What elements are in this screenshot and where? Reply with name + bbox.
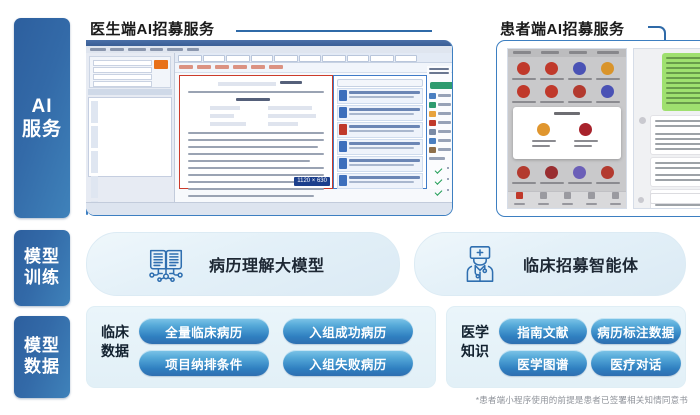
doctor-icon xyxy=(459,243,501,285)
emr-record-item[interactable] xyxy=(337,105,423,121)
emr-resolution-badge: 1120 × 630 xyxy=(294,177,330,186)
chip-medical-graph[interactable]: 医学图谱 xyxy=(499,350,587,376)
app-grid-label xyxy=(540,182,564,184)
app-grid-label xyxy=(596,78,620,80)
chip-project-criteria[interactable]: 项目纳排条件 xyxy=(139,350,269,376)
emr-field-row xyxy=(429,93,449,99)
emr-record-item[interactable] xyxy=(337,156,423,172)
chip-enrolled-failed-records[interactable]: 入组失败病历 xyxy=(283,350,413,376)
patient-app-home-phone[interactable] xyxy=(507,48,627,209)
book-circuit-icon xyxy=(145,243,187,285)
trial-option-icon[interactable] xyxy=(537,123,550,136)
stage-rail: AI 服务 模型 训练 模型 数据 xyxy=(14,18,70,398)
app-grid-icon[interactable] xyxy=(517,166,530,179)
emr-field-row xyxy=(429,111,449,117)
card-clinical-recruit-agent-label: 临床招募智能体 xyxy=(523,252,639,276)
ai-service-row: 医生端AI招募服务 患者端AI招募服务 xyxy=(82,18,686,218)
rail-item-model-training-line1: 模型 xyxy=(24,247,60,268)
patient-app-tabbar[interactable] xyxy=(508,191,626,208)
chat-bubble-outgoing xyxy=(662,53,700,111)
tabbar-icon-fourth[interactable] xyxy=(588,192,595,199)
rail-item-ai-service-line1: AI xyxy=(22,95,62,118)
app-grid-icon[interactable] xyxy=(517,62,530,75)
group-title-line1: 临床 xyxy=(97,323,133,342)
app-grid-icon[interactable] xyxy=(545,62,558,75)
app-grid-label xyxy=(512,182,536,184)
app-grid-icon[interactable] xyxy=(545,166,558,179)
chat-bubble-incoming xyxy=(650,157,700,187)
model-training-row: 病历理解大模型 临床招募智能体 xyxy=(82,232,686,294)
emr-search-button[interactable] xyxy=(154,60,168,69)
emr-status-chip xyxy=(430,82,453,89)
emr-document-viewer[interactable]: 1120 × 630 xyxy=(179,75,333,189)
emr-sidebar-tabs[interactable] xyxy=(88,89,172,95)
doctor-service-title: 医生端AI招募服务 xyxy=(90,18,215,39)
patient-miniprogram-screenshots[interactable] xyxy=(496,40,700,217)
rail-item-model-training-line2: 训练 xyxy=(24,268,60,289)
group-medical-knowledge-title: 医学 知识 xyxy=(457,323,493,361)
app-grid-label xyxy=(540,78,564,80)
app-grid-icon[interactable] xyxy=(601,62,614,75)
emr-criteria-check xyxy=(447,189,449,196)
app-grid-icon[interactable] xyxy=(601,166,614,179)
chip-guideline-literature[interactable]: 指南文献 xyxy=(499,318,587,344)
chat-input[interactable] xyxy=(650,193,700,204)
emr-trial-title xyxy=(429,68,449,79)
app-grid-icon[interactable] xyxy=(573,166,586,179)
tabbar-icon-third[interactable] xyxy=(564,192,571,199)
diagram-canvas: AI 服务 模型 训练 模型 数据 医生端AI招募服务 患者端AI招募服务 xyxy=(0,0,700,415)
rail-item-ai-service-line2: 服务 xyxy=(22,118,62,141)
trial-option-label xyxy=(532,140,556,142)
clinical-trial-modal[interactable] xyxy=(513,107,621,159)
chip-annotated-records[interactable]: 病历标注数据 xyxy=(591,318,681,344)
emr-field-row xyxy=(429,102,449,108)
emr-record-search-input[interactable] xyxy=(337,79,423,87)
emr-criteria-check xyxy=(447,167,449,174)
emr-record-list[interactable] xyxy=(333,75,427,189)
emr-main-area: 1120 × 630 xyxy=(175,53,452,203)
app-grid-label xyxy=(540,101,564,103)
emr-criteria-check xyxy=(447,178,449,185)
emr-search-form[interactable] xyxy=(89,56,171,88)
group-title-line2: 知识 xyxy=(457,342,493,361)
app-grid-icon[interactable] xyxy=(517,85,530,98)
emr-record-item[interactable] xyxy=(337,88,423,104)
card-clinical-recruit-agent[interactable]: 临床招募智能体 xyxy=(414,232,686,296)
rail-item-model-data-line2: 数据 xyxy=(24,357,60,378)
emr-tabbar[interactable] xyxy=(175,53,452,63)
rail-item-model-training[interactable]: 模型 训练 xyxy=(14,230,70,306)
rail-item-ai-service[interactable]: AI 服务 xyxy=(14,18,70,218)
app-grid-icon[interactable] xyxy=(573,62,586,75)
card-medical-record-llm-label: 病历理解大模型 xyxy=(209,252,325,276)
emr-field-row xyxy=(429,138,449,144)
chip-enrolled-success-records[interactable]: 入组成功病历 xyxy=(283,318,413,344)
group-clinical-data: 临床 数据 全量临床病历 入组成功病历 项目纳排条件 入组失败病历 xyxy=(86,306,436,388)
app-grid-label xyxy=(568,101,592,103)
emr-patient-sidebar[interactable] xyxy=(86,53,175,203)
emr-record-item[interactable] xyxy=(337,173,423,189)
tabbar-icon-profile[interactable] xyxy=(612,192,619,199)
app-grid-label xyxy=(568,182,592,184)
card-medical-record-llm[interactable]: 病历理解大模型 xyxy=(86,232,400,296)
doctor-emr-screenshot[interactable]: 1120 × 630 xyxy=(86,40,453,216)
emr-record-item[interactable] xyxy=(337,122,423,138)
trial-option-label xyxy=(532,145,550,147)
group-title-line1: 医学 xyxy=(457,323,493,342)
rail-item-model-data-line1: 模型 xyxy=(24,336,60,357)
app-grid-label xyxy=(596,101,620,103)
header-rule xyxy=(236,30,432,32)
emr-trial-match-panel xyxy=(427,66,451,189)
clinical-trial-modal-title xyxy=(554,112,580,115)
app-grid-label xyxy=(596,182,620,184)
chip-medical-dialogue[interactable]: 医疗对话 xyxy=(591,350,681,376)
trial-option-label xyxy=(574,145,592,147)
model-data-row: 临床 数据 全量临床病历 入组成功病历 项目纳排条件 入组失败病历 医学 知识 … xyxy=(82,306,686,386)
chat-bubble-incoming xyxy=(650,115,700,155)
app-grid-icon[interactable] xyxy=(601,85,614,98)
emr-statusbar xyxy=(86,202,452,215)
patient-chat-phone[interactable] xyxy=(633,48,700,209)
emr-record-item[interactable] xyxy=(337,139,423,155)
app-grid-label xyxy=(512,78,536,80)
trial-option-label xyxy=(574,140,598,142)
app-grid-label xyxy=(512,101,536,103)
tabbar-icon-home[interactable] xyxy=(516,192,523,199)
group-clinical-data-title: 临床 数据 xyxy=(97,323,133,361)
trial-option-icon[interactable] xyxy=(579,123,592,136)
emr-toolbar[interactable] xyxy=(175,63,452,73)
emr-field-row xyxy=(429,147,449,153)
app-grid-label xyxy=(568,78,592,80)
emr-window: 1120 × 630 xyxy=(86,40,452,215)
patient-app-tabs[interactable] xyxy=(508,49,626,57)
chip-all-clinical-records[interactable]: 全量临床病历 xyxy=(139,318,269,344)
chat-avatar xyxy=(639,117,646,124)
rail-item-model-data[interactable]: 模型 数据 xyxy=(14,316,70,398)
emr-patient-list[interactable] xyxy=(88,97,172,177)
emr-field-row xyxy=(429,156,449,162)
patient-service-title: 患者端AI招募服务 xyxy=(500,18,625,39)
emr-field-row xyxy=(429,120,449,126)
tabbar-icon-second[interactable] xyxy=(540,192,547,199)
emr-field-row xyxy=(429,129,449,135)
group-title-line2: 数据 xyxy=(97,342,133,361)
app-grid-icon[interactable] xyxy=(573,85,586,98)
app-grid-icon[interactable] xyxy=(545,85,558,98)
group-medical-knowledge: 医学 知识 指南文献 病历标注数据 医学图谱 医疗对话 xyxy=(446,306,686,388)
chat-voice-button[interactable] xyxy=(638,197,644,203)
footnote: *患者端小程序使用的前提是患者已签署相关知情同意书 xyxy=(476,394,688,406)
